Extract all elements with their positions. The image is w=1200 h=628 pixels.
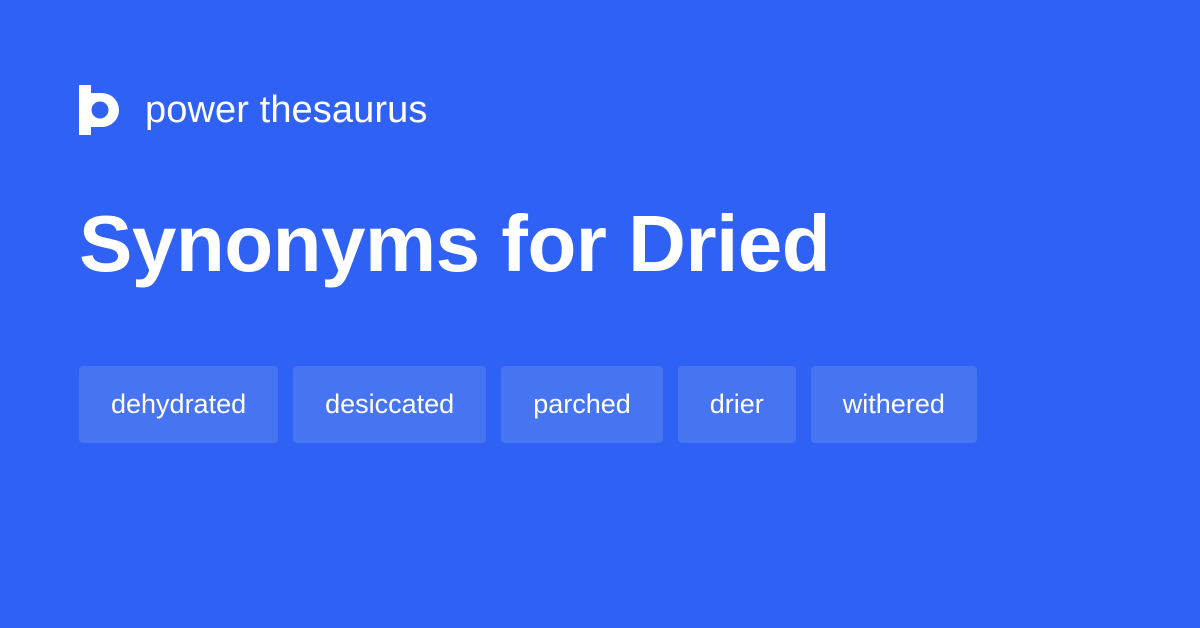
synonym-chip[interactable]: desiccated [293, 366, 486, 443]
synonym-chip[interactable]: parched [501, 366, 663, 443]
synonym-chip[interactable]: drier [678, 366, 796, 443]
brand-name: power thesaurus [145, 91, 427, 129]
synonym-chip[interactable]: dehydrated [79, 366, 278, 443]
power-thesaurus-b-logo-icon [79, 85, 123, 135]
share-card: power thesaurus Synonyms for Dried dehyd… [0, 0, 1200, 628]
brand-header[interactable]: power thesaurus [79, 82, 427, 138]
synonym-chip[interactable]: withered [811, 366, 977, 443]
page-title: Synonyms for Dried [79, 196, 830, 292]
synonym-chip-list: dehydrated desiccated parched drier with… [79, 366, 1079, 443]
